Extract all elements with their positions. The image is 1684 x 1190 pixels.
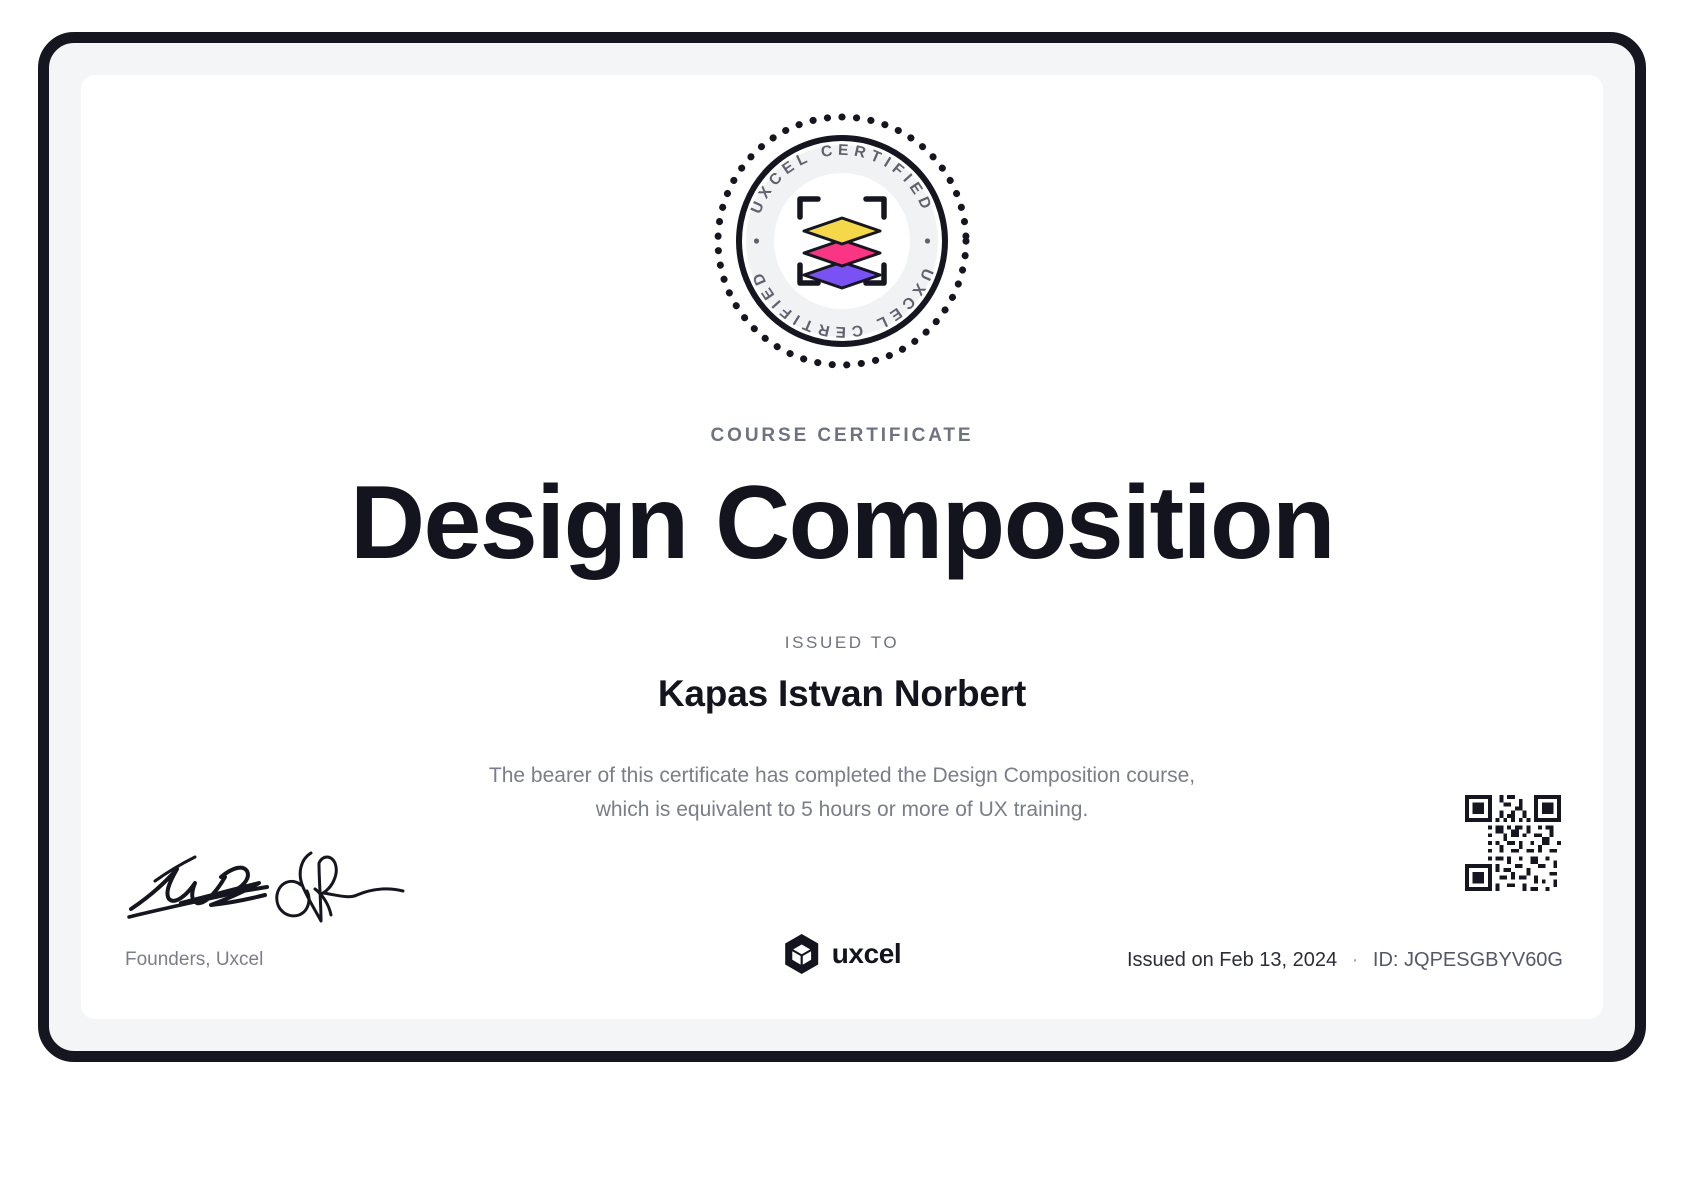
certificate-id: ID: JQPESGBYV60G	[1373, 949, 1563, 971]
signatures	[125, 833, 455, 923]
issue-metadata: Issued on Feb 13, 2024 · ID: JQPESGBYV60…	[1127, 949, 1563, 972]
signature-caption: Founders, Uxcel	[125, 949, 263, 971]
course-title: Design Composition	[81, 465, 1603, 581]
seal-bullet-left	[754, 238, 759, 243]
uxcel-hexagon-cube-logo	[783, 933, 821, 975]
certificate-description: The bearer of this certificate has compl…	[412, 759, 1272, 827]
issued-to-label: ISSUED TO	[81, 633, 1603, 653]
uxcel-wordmark: uxcel	[832, 938, 902, 970]
uxcel-certified-seal: UXCEL CERTIFIED UXCEL CERTIFIED	[708, 107, 976, 375]
signature-strokes	[125, 833, 425, 923]
layers-stack-icon	[804, 218, 880, 288]
certificate-type-label: COURSE CERTIFICATE	[81, 425, 1603, 447]
certificate-qr-code[interactable]	[1465, 795, 1561, 891]
issued-on-date: Issued on Feb 13, 2024	[1127, 949, 1337, 971]
meta-separator: ·	[1352, 949, 1359, 971]
recipient-name: Kapas Istvan Norbert	[81, 673, 1603, 715]
certificate-canvas: UXCEL CERTIFIED UXCEL CERTIFIED	[81, 75, 1603, 1019]
seal-graphic: UXCEL CERTIFIED UXCEL CERTIFIED	[708, 107, 976, 375]
signature-two	[277, 853, 403, 921]
uxcel-brand-lockup: uxcel	[783, 933, 902, 975]
signature-one	[129, 857, 267, 917]
seal-bullet-right	[925, 238, 930, 243]
description-line-2: which is equivalent to 5 hours or more o…	[412, 793, 1272, 827]
qr-code-graphic	[1465, 795, 1561, 891]
description-line-1: The bearer of this certificate has compl…	[412, 759, 1272, 793]
certificate-frame: UXCEL CERTIFIED UXCEL CERTIFIED	[38, 32, 1646, 1062]
